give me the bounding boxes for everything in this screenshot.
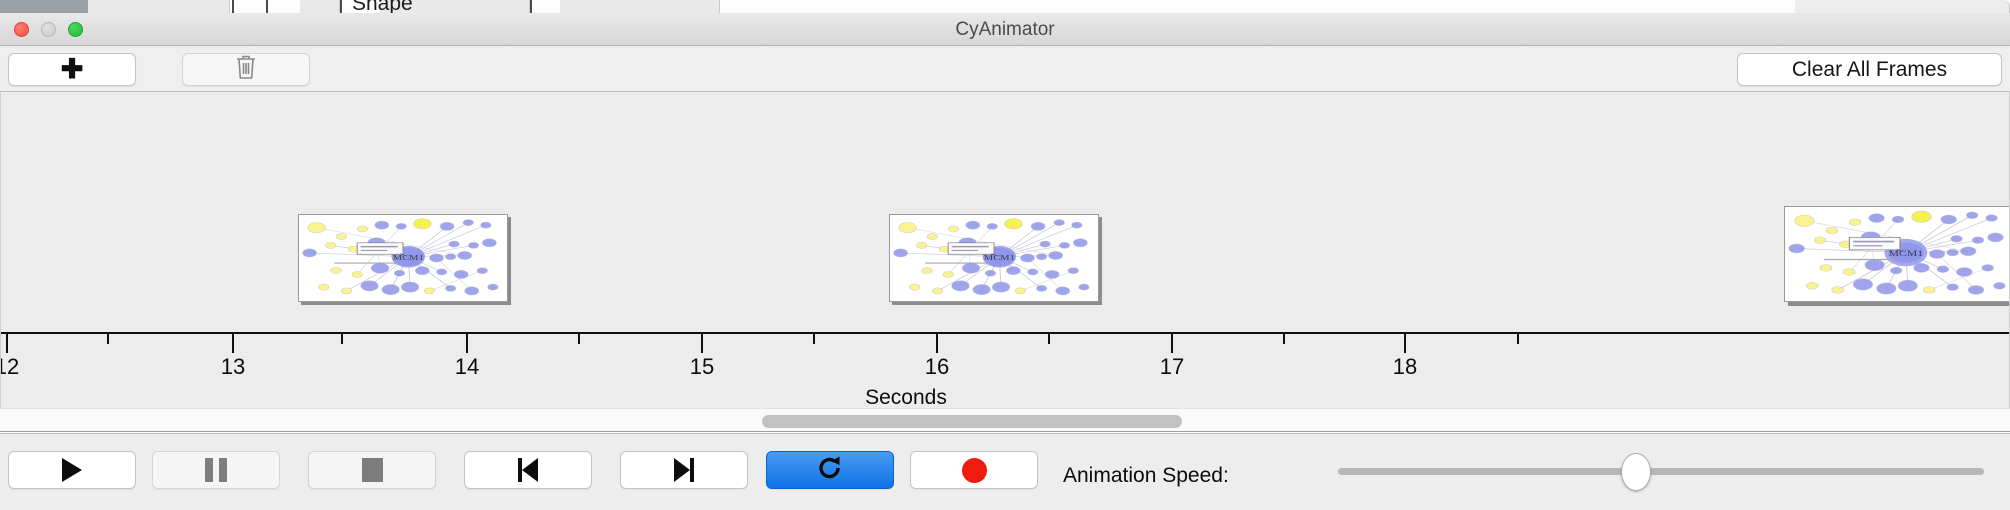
bg-block	[300, 0, 340, 13]
stop-icon	[362, 458, 383, 482]
axis-tick	[1048, 334, 1050, 344]
cyanimator-window: Shape CyAnimator ✚ Clear All Frames	[0, 0, 2010, 510]
axis-tick	[1517, 334, 1519, 344]
bg-tick	[232, 0, 234, 13]
bg-tick	[266, 0, 268, 13]
axis-tick-label: 14	[455, 354, 479, 380]
axis-title-label: Seconds	[865, 386, 947, 408]
axis-tick-label: 17	[1160, 354, 1184, 380]
slider-track	[1338, 468, 1984, 475]
bg-tick	[340, 0, 342, 13]
axis-title: Seconds	[1, 386, 2010, 408]
trash-icon	[234, 53, 258, 86]
loop-icon	[815, 453, 845, 488]
axis-tick	[578, 334, 580, 344]
svg-text:MCM1: MCM1	[1889, 250, 1923, 259]
axis-tick-label: 13	[221, 354, 245, 380]
record-button[interactable]	[910, 451, 1038, 489]
timeline-frame[interactable]: MCM1	[889, 214, 1099, 302]
axis-line	[1, 332, 2010, 334]
animation-speed-label: Animation Speed:	[1063, 464, 1229, 488]
bg-block	[88, 0, 230, 13]
add-frame-button[interactable]: ✚	[8, 53, 136, 86]
skip-backward-icon	[518, 458, 538, 482]
axis-tick	[1171, 334, 1173, 353]
axis-tick	[1283, 334, 1285, 344]
slider-thumb[interactable]	[1621, 453, 1651, 491]
axis-tick	[1404, 334, 1406, 353]
clear-all-frames-label: Clear All Frames	[1792, 58, 1947, 82]
skip-forward-icon	[674, 458, 694, 482]
playback-bar: Animation Speed:	[0, 433, 2010, 510]
toolbar: ✚ Clear All Frames	[0, 46, 2010, 92]
svg-text:MCM1: MCM1	[984, 253, 1016, 261]
animation-speed-slider[interactable]	[1338, 468, 1984, 476]
play-button[interactable]	[8, 451, 136, 489]
pause-icon	[205, 458, 227, 482]
title-bar[interactable]: CyAnimator	[0, 13, 2010, 46]
plus-icon: ✚	[61, 56, 84, 83]
bg-rounded-corner	[1795, 0, 2010, 13]
axis-tick-label: 18	[1393, 354, 1417, 380]
frames-area[interactable]: MCM1 MCM1 MCM1	[1, 92, 2010, 308]
skip-start-button[interactable]	[464, 451, 592, 489]
delete-frame-button[interactable]	[182, 53, 310, 86]
axis-tick	[107, 334, 109, 344]
bg-block	[560, 0, 720, 13]
stop-button[interactable]	[308, 451, 436, 489]
timeline-scrollbar[interactable]	[0, 408, 2010, 432]
skip-end-button[interactable]	[620, 451, 748, 489]
axis-tick	[466, 334, 468, 353]
pause-button[interactable]	[152, 451, 280, 489]
axis-tick-label: 16	[925, 354, 949, 380]
frame-network-thumbnail: MCM1	[299, 215, 507, 301]
record-icon	[962, 458, 987, 483]
axis-tick-label: 15	[690, 354, 714, 380]
axis-tick	[6, 334, 8, 353]
background-window-strip: Shape	[0, 0, 2010, 14]
timeline-axis: 12131415161718 Seconds	[1, 308, 2010, 408]
play-icon	[62, 458, 82, 482]
axis-tick-label: 12	[0, 354, 19, 380]
frame-network-thumbnail: MCM1	[890, 215, 1098, 301]
bg-block	[0, 0, 88, 13]
svg-text:MCM1: MCM1	[393, 253, 425, 261]
timeline-panel[interactable]: MCM1 MCM1 MCM1 12131415161718 Seconds	[0, 92, 2010, 408]
clear-all-frames-button[interactable]: Clear All Frames	[1737, 53, 2002, 86]
window-title: CyAnimator	[0, 13, 2010, 46]
loop-button[interactable]	[766, 451, 894, 489]
axis-tick	[701, 334, 703, 353]
axis-tick	[232, 334, 234, 353]
frame-network-thumbnail: MCM1	[1785, 207, 2010, 301]
axis-tick	[936, 334, 938, 353]
bg-tick	[530, 0, 532, 13]
axis-tick	[813, 334, 815, 344]
axis-tick	[341, 334, 343, 344]
scrollbar-thumb[interactable]	[762, 415, 1182, 428]
timeline-frame[interactable]: MCM1	[298, 214, 508, 302]
timeline-frame[interactable]: MCM1	[1784, 206, 2010, 302]
